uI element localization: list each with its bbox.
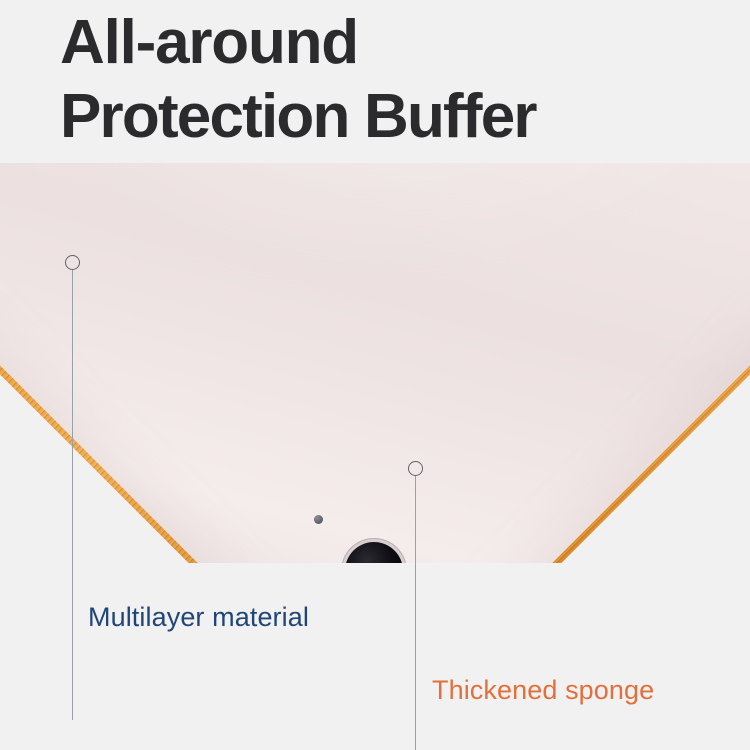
headline-line-1: All-around [60,6,740,80]
page-title: All-around Protection Buffer [60,6,740,154]
callout-marker-sponge [408,461,423,476]
callout-label-multilayer: Multilayer material [88,602,309,633]
product-feature-banner: All-around Protection Buffer Multilayer … [0,0,750,750]
callout-marker-multilayer [65,255,80,270]
microphone-hole-icon [314,515,323,524]
product-photo [0,163,750,563]
callout-leader-multilayer [72,270,73,720]
callout-label-sponge: Thickened sponge [432,675,654,706]
headline-line-2: Protection Buffer [60,80,740,154]
tablet-back-sheen [0,163,750,563]
callout-leader-sponge [415,476,416,750]
tablet-back-shell [0,163,750,563]
